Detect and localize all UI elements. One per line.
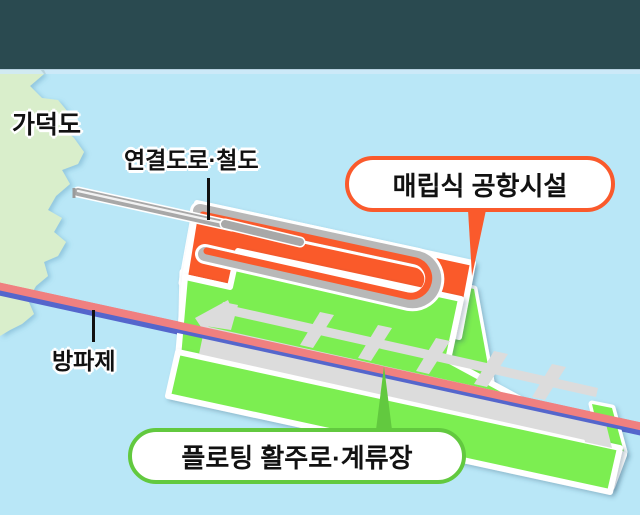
map-label-connector: 연결도로·철도 (124, 141, 259, 175)
map-label-island: 가덕도 (12, 105, 81, 141)
infographic-canvas: 가덕신공항 조성 계획도 가덕도 연결도로·철도 방파제 매립식 공항시설 플로… (0, 0, 640, 515)
callout-floating-label: 플로팅 활주로·계류장 (181, 438, 412, 475)
leader-line-connector (207, 178, 210, 220)
map-label-breakwater: 방파제 (52, 342, 115, 376)
callout-floating-runway-apron: 플로팅 활주로·계류장 (128, 428, 466, 484)
callout-reclaimed-airport-facility: 매립식 공항시설 (345, 156, 615, 212)
callout-reclaimed-label: 매립식 공항시설 (393, 166, 568, 203)
header-bar (0, 0, 640, 70)
leader-line-breakwater (92, 310, 95, 342)
